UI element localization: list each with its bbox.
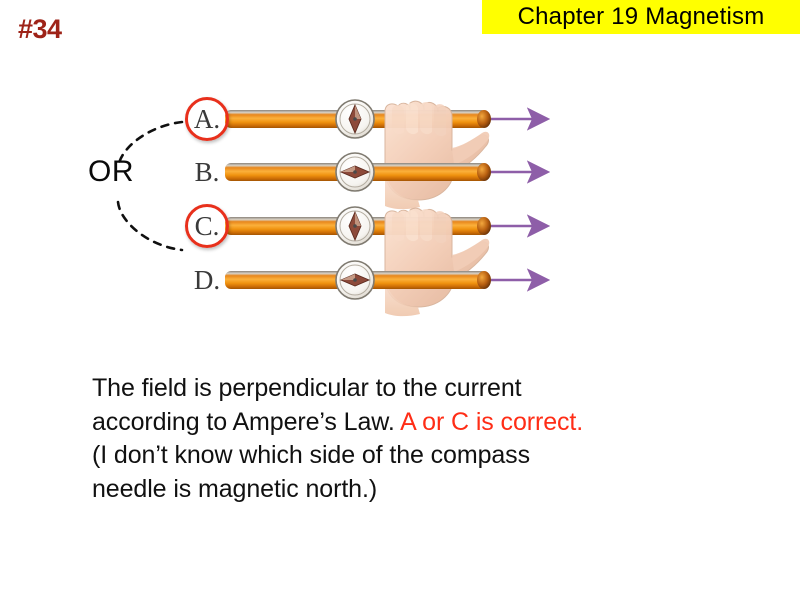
answer-explanation: The field is perpendicular to the curren… [92, 372, 732, 506]
choice-ring-c [185, 204, 229, 248]
figure-row-c [225, 207, 545, 316]
compass-a [336, 100, 374, 138]
chapter-banner: Chapter 19 Magnetism [482, 0, 800, 34]
answer-line-4: needle is magnetic north.) [92, 473, 732, 507]
row-label-b: B. [184, 157, 230, 188]
or-label: OR [88, 155, 134, 189]
answer-line-2: according to Ampere’s Law. A or C is cor… [92, 406, 732, 440]
diagram-canvas [0, 60, 800, 330]
answer-line-2-plain: according to Ampere’s Law. [92, 408, 400, 436]
compass-c [336, 207, 374, 245]
figure-row-a [225, 100, 545, 209]
choice-ring-a [185, 97, 229, 141]
row-label-d: D. [184, 265, 230, 296]
compass-b [336, 153, 374, 191]
chapter-title: Chapter 19 Magnetism [518, 3, 765, 31]
answer-highlight: A or C is correct. [400, 408, 583, 436]
right-hand-rule-diagram: A. B. C. D. OR [0, 60, 800, 330]
slide-number: #34 [18, 14, 62, 45]
answer-line-3: (I don’t know which side of the compass [92, 439, 732, 473]
compass-d [336, 261, 374, 299]
answer-line-1: The field is perpendicular to the curren… [92, 372, 732, 406]
